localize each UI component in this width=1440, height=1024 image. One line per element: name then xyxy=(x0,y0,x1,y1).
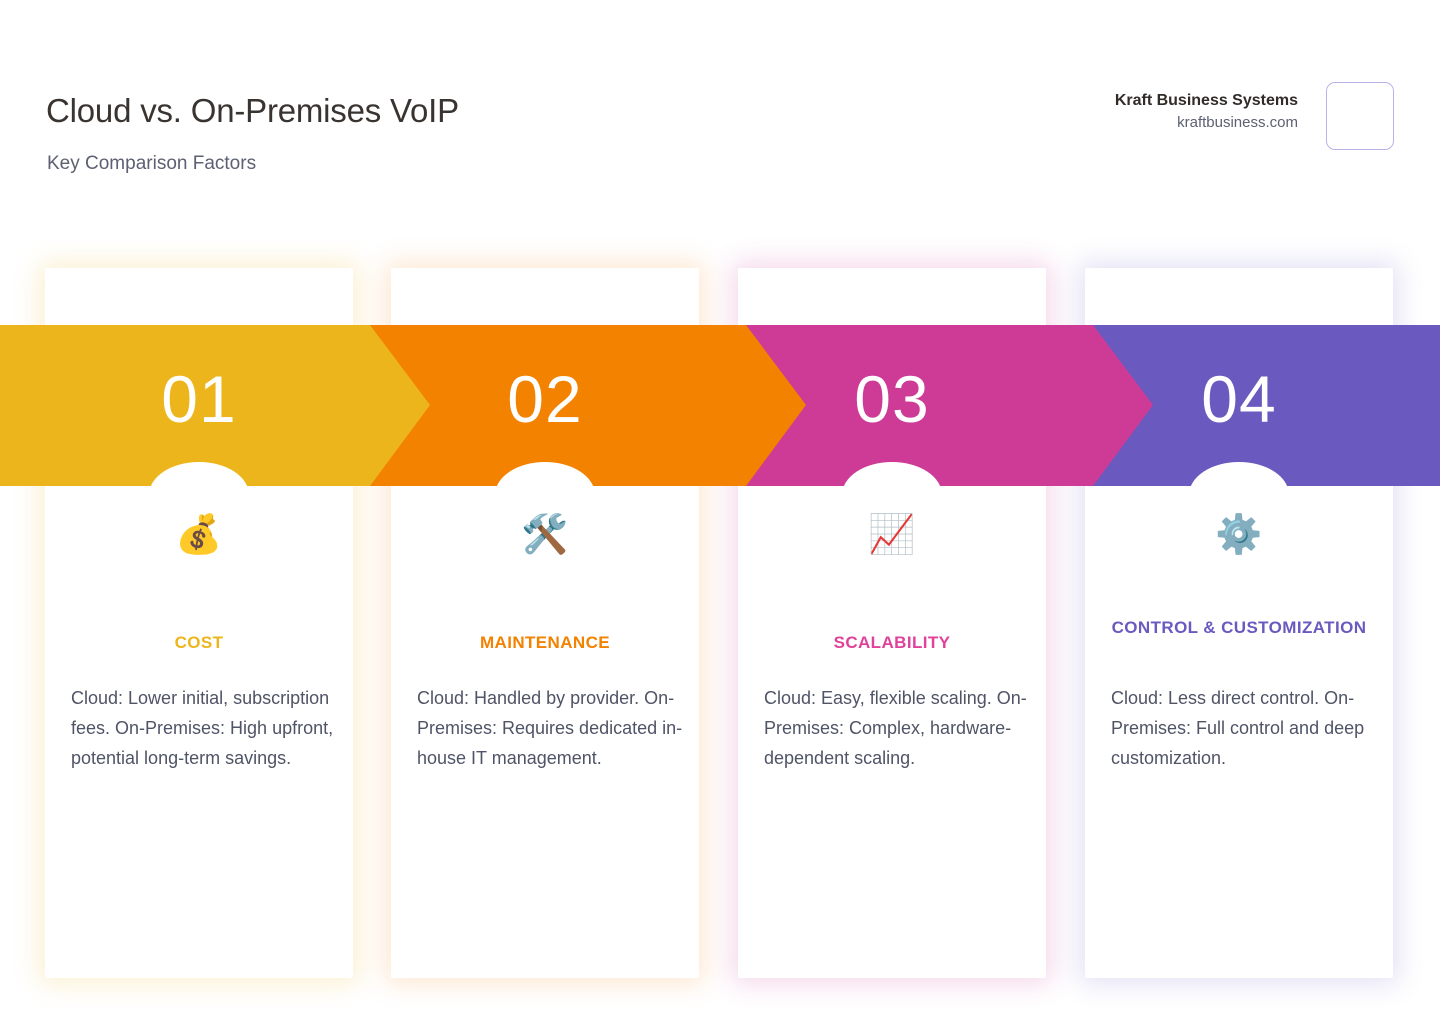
step-number-list: 01 02 03 04 xyxy=(0,325,1440,486)
step-number-3: 03 xyxy=(738,357,1046,441)
hammer-and-wrench-icon: 🛠️ xyxy=(391,513,699,557)
step-heading-4: CONTROL & CUSTOMIZATION xyxy=(1103,613,1375,642)
step-body-2: Cloud: Handled by provider. On-Premises:… xyxy=(417,683,685,773)
step-heading-3: SCALABILITY xyxy=(756,628,1028,657)
gear-icon: ⚙️ xyxy=(1085,513,1393,557)
step-heading-1: COST xyxy=(63,628,335,657)
step-number-2: 02 xyxy=(391,357,699,441)
step-number-4: 04 xyxy=(1085,357,1393,441)
step-body-4: Cloud: Less direct control. On-Premises:… xyxy=(1111,683,1379,773)
money-bag-icon: 💰 xyxy=(45,513,353,557)
infographic-page: Cloud vs. On-Premises VoIP Key Compariso… xyxy=(0,0,1440,1024)
step-number-1: 01 xyxy=(45,357,353,441)
step-body-1: Cloud: Lower initial, subscription fees.… xyxy=(71,683,339,773)
chart-increasing-icon: 📈 xyxy=(738,513,1046,557)
step-card-list: 💰 COST Cloud: Lower initial, subscriptio… xyxy=(0,0,1440,1024)
step-heading-2: MAINTENANCE xyxy=(409,628,681,657)
step-body-3: Cloud: Easy, flexible scaling. On-Premis… xyxy=(764,683,1032,773)
